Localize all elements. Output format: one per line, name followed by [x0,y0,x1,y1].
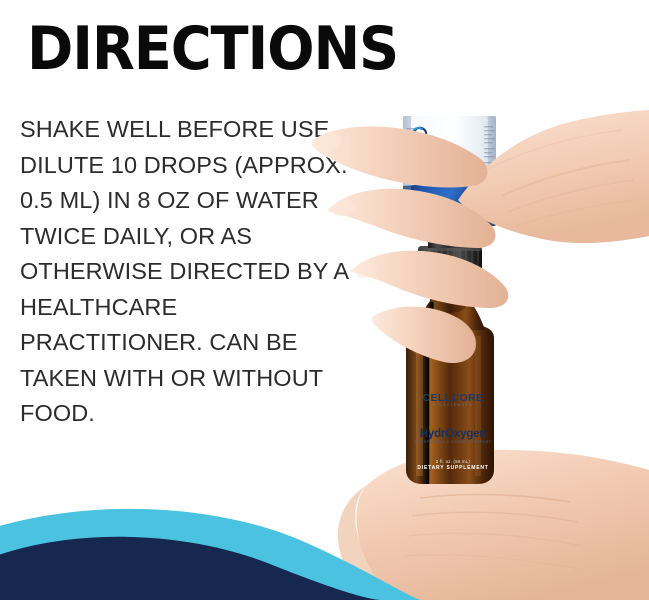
product-photo [270,0,649,600]
